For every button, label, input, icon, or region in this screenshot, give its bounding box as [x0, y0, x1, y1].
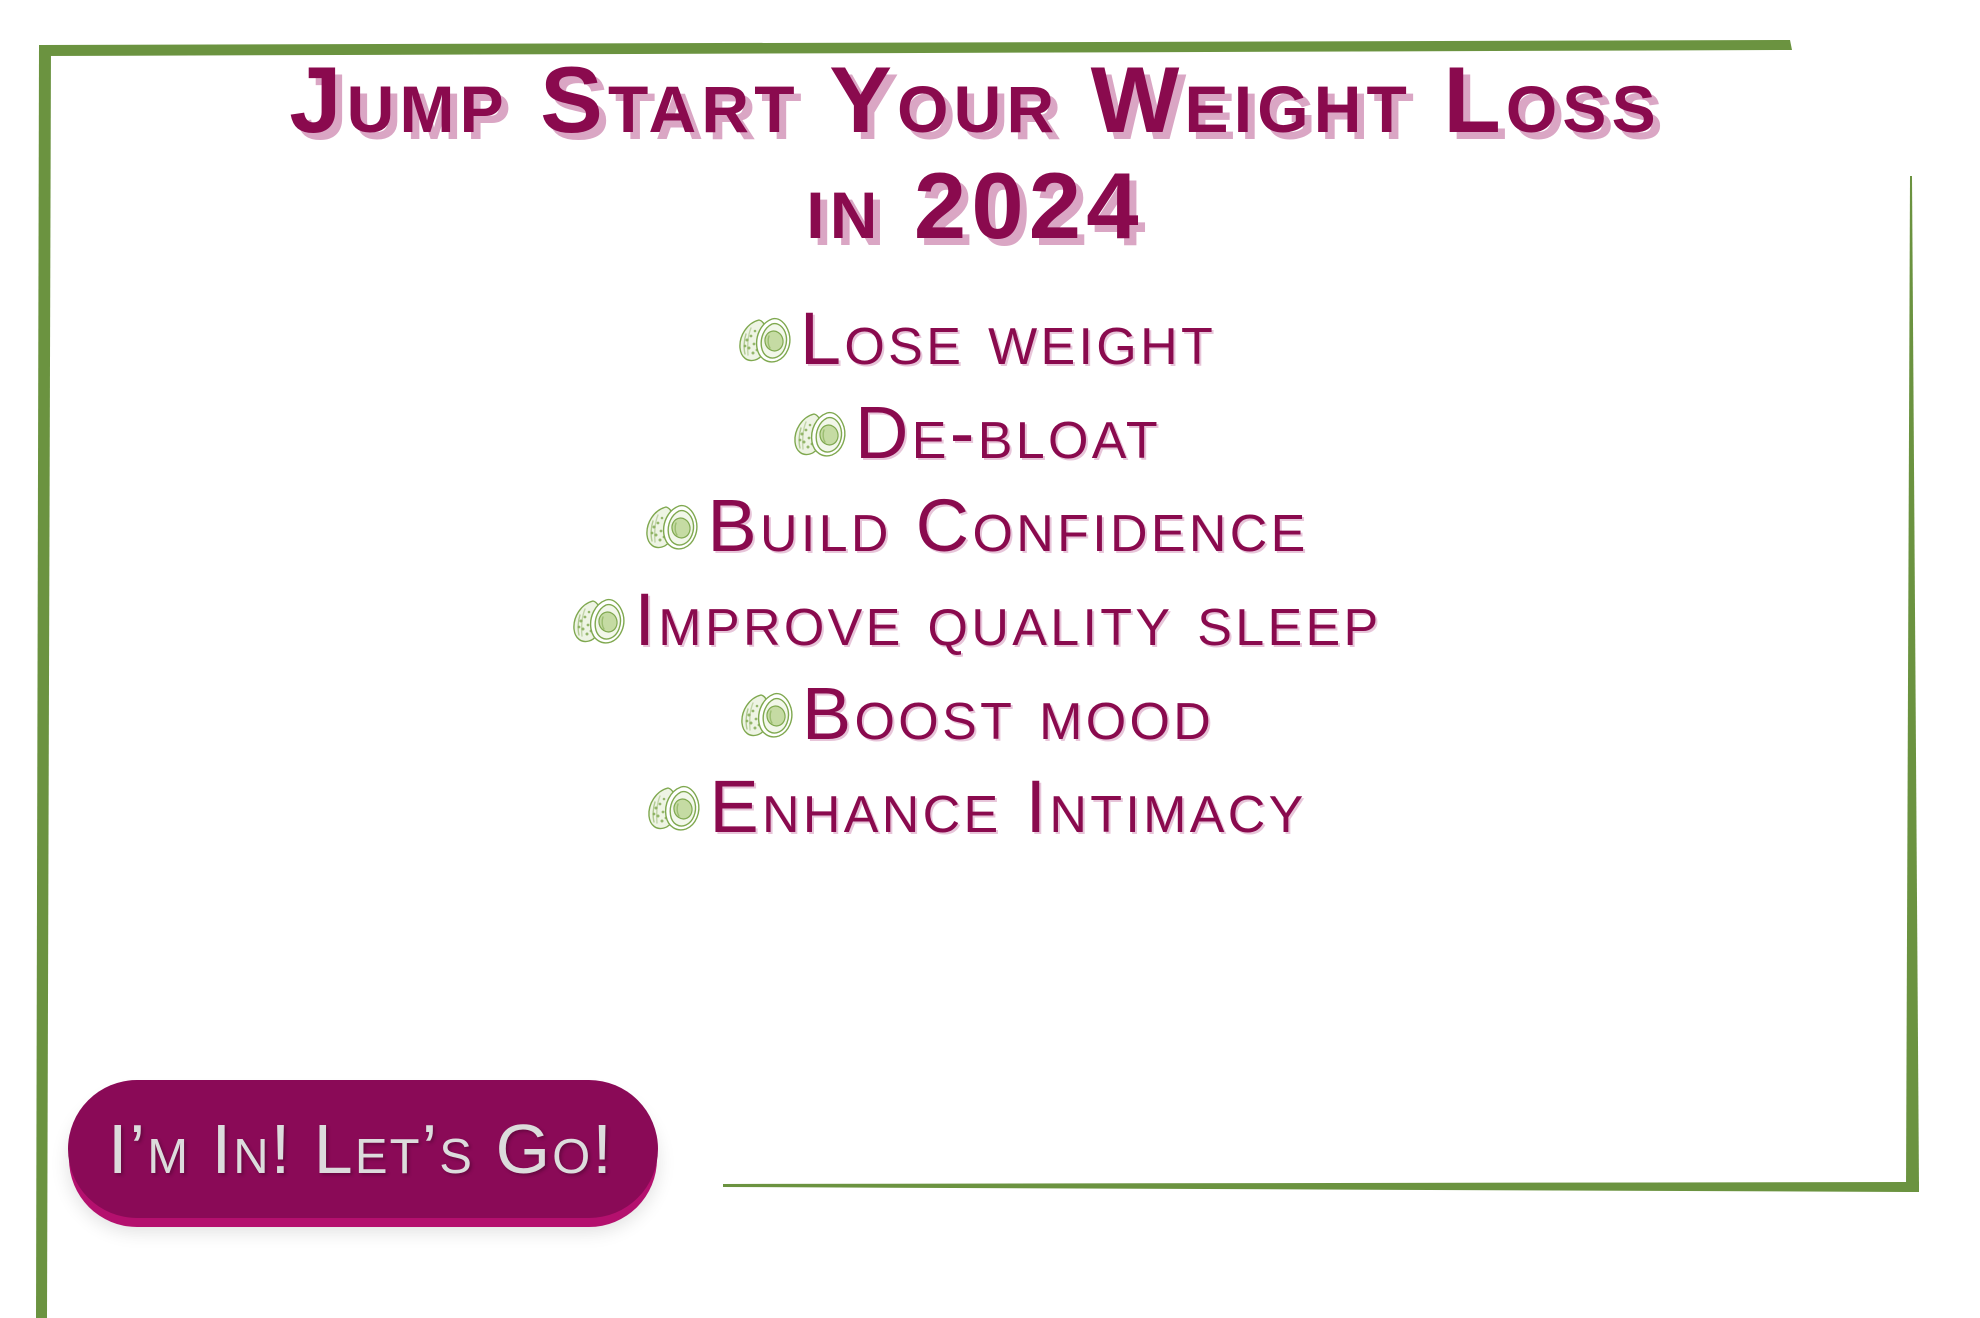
benefit-label: Boost mood	[802, 675, 1214, 753]
im-in-lets-go-button[interactable]: I’m In! Let’s Go!	[68, 1080, 658, 1218]
promo-poster: Jump Start Your Weight Loss in 2024	[0, 0, 1980, 1318]
avocado-icon	[568, 591, 632, 649]
poster-title: Jump Start Your Weight Loss in 2024	[70, 52, 1880, 254]
list-item: Build Confidence	[641, 487, 1308, 565]
cta-button-label: I’m In! Let’s Go!	[108, 1109, 614, 1189]
list-item: Boost mood	[736, 675, 1214, 753]
benefit-label: De-bloat	[855, 394, 1161, 472]
avocado-icon	[643, 778, 707, 836]
benefit-label: Improve quality sleep	[634, 581, 1381, 659]
list-item: De-bloat	[789, 394, 1161, 472]
cta-container: I’m In! Let’s Go!	[68, 1080, 658, 1218]
benefit-label: Enhance Intimacy	[709, 768, 1306, 846]
title-line-1: Jump Start Your Weight Loss	[70, 52, 1880, 148]
benefit-label: Lose weight	[800, 300, 1216, 378]
list-item: Lose weight	[734, 300, 1216, 378]
avocado-icon	[641, 497, 705, 555]
avocado-icon	[734, 310, 798, 368]
avocado-icon	[789, 404, 853, 462]
list-item: Improve quality sleep	[568, 581, 1381, 659]
title-line-2: in 2024	[70, 158, 1880, 254]
benefits-list: Lose weight	[70, 300, 1880, 846]
avocado-icon	[736, 685, 800, 743]
benefit-label: Build Confidence	[707, 487, 1308, 565]
list-item: Enhance Intimacy	[643, 768, 1306, 846]
